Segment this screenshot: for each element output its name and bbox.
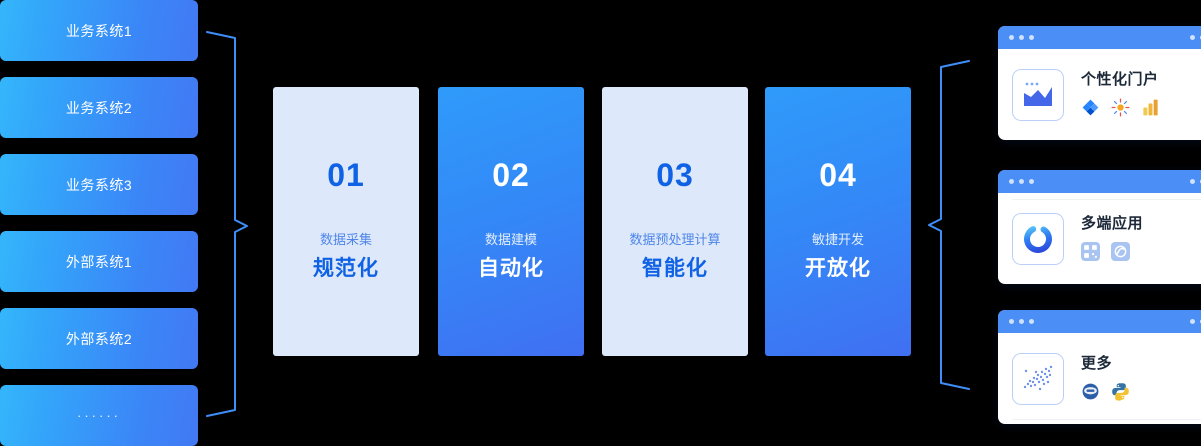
output-panel-multi-device[interactable]: 多端应用 <box>998 170 1201 284</box>
source-systems-list: 业务系统1 业务系统2 业务系统3 外部系统1 外部系统2 ······ <box>0 0 198 446</box>
step-number: 03 <box>656 159 694 191</box>
step-number: 02 <box>492 159 530 191</box>
power-bi-bar-logo[interactable] <box>1141 98 1160 117</box>
panel-content: 更多 <box>1081 356 1130 401</box>
step-card-02[interactable]: 02 数据建模 自动化 <box>438 87 584 356</box>
r-language-logo[interactable] <box>1081 382 1100 401</box>
sidebar-item-business-system-1[interactable]: 业务系统1 <box>0 0 198 61</box>
panel-title-bar <box>998 170 1201 193</box>
infographic-stage: 业务系统1 业务系统2 业务系统3 外部系统1 外部系统2 ······ 01 … <box>0 0 1201 446</box>
output-panel-more[interactable]: 更多 <box>998 310 1201 424</box>
scatter-plot-icon <box>1012 353 1064 405</box>
sidebar-item-label: 业务系统3 <box>66 175 132 195</box>
window-dots-right <box>1190 319 1201 324</box>
window-dots-left <box>1009 179 1034 184</box>
window-dots-right <box>1190 179 1201 184</box>
panel-title: 个性化门户 <box>1081 72 1159 87</box>
step-card-01[interactable]: 01 数据采集 规范化 <box>273 87 419 356</box>
sidebar-item-external-system-2[interactable]: 外部系统2 <box>0 308 198 369</box>
panel-body: 多端应用 <box>998 193 1201 284</box>
sidebar-item-label: 业务系统1 <box>66 21 132 41</box>
panel-logo-row <box>1081 98 1160 117</box>
panel-title-bar <box>998 310 1201 333</box>
area-chart-icon <box>1012 69 1064 121</box>
step-number: 04 <box>819 159 857 191</box>
divider <box>1012 419 1201 420</box>
panel-logo-row <box>1081 382 1130 401</box>
sidebar-item-business-system-3[interactable]: 业务系统3 <box>0 154 198 215</box>
step-card-04[interactable]: 04 敏捷开发 开放化 <box>765 87 911 356</box>
step-title: 规范化 <box>313 258 379 279</box>
panel-title: 多端应用 <box>1081 216 1143 231</box>
window-dots-right <box>1190 35 1201 40</box>
left-connector-bracket <box>203 24 251 424</box>
panel-body: 个性化门户 <box>998 49 1201 140</box>
step-card-03[interactable]: 03 数据预处理计算 智能化 <box>602 87 748 356</box>
panel-logo-row <box>1081 242 1130 261</box>
step-subtitle: 数据建模 <box>485 233 537 246</box>
window-dots-left <box>1009 35 1034 40</box>
sidebar-item-external-system-1[interactable]: 外部系统1 <box>0 231 198 292</box>
step-subtitle: 敏捷开发 <box>812 233 864 246</box>
panel-body: 更多 <box>998 333 1201 424</box>
output-panel-portal[interactable]: 个性化门户 <box>998 26 1201 140</box>
step-subtitle: 数据预处理计算 <box>629 233 720 246</box>
sparkle-analytics-logo[interactable] <box>1111 98 1130 117</box>
step-title: 自动化 <box>478 258 544 279</box>
sidebar-item-label: ······ <box>77 408 121 423</box>
process-steps: 01 数据采集 规范化 02 数据建模 自动化 03 数据预处理计算 智能化 0… <box>273 87 926 356</box>
step-title: 智能化 <box>642 258 708 279</box>
panel-title: 更多 <box>1081 356 1112 371</box>
jira-diamond-logo[interactable] <box>1081 98 1100 117</box>
step-number: 01 <box>327 159 365 191</box>
step-subtitle: 数据采集 <box>320 233 372 246</box>
sidebar-item-label: 业务系统2 <box>66 98 132 118</box>
sidebar-item-label: 外部系统1 <box>66 252 132 272</box>
sidebar-item-business-system-2[interactable]: 业务系统2 <box>0 77 198 138</box>
panel-content: 个性化门户 <box>1081 72 1160 117</box>
wechat-mini-program-logo[interactable] <box>1111 242 1130 261</box>
python-logo[interactable] <box>1111 382 1130 401</box>
sidebar-item-label: 外部系统2 <box>66 329 132 349</box>
window-dots-left <box>1009 319 1034 324</box>
step-title: 开放化 <box>805 258 871 279</box>
sidebar-item-more[interactable]: ······ <box>0 385 198 446</box>
panel-title-bar <box>998 26 1201 49</box>
qr-code-app-logo[interactable] <box>1081 242 1100 261</box>
donut-chart-icon <box>1012 213 1064 265</box>
divider <box>1012 199 1201 200</box>
right-connector-bracket <box>925 55 973 395</box>
panel-content: 多端应用 <box>1081 216 1143 261</box>
